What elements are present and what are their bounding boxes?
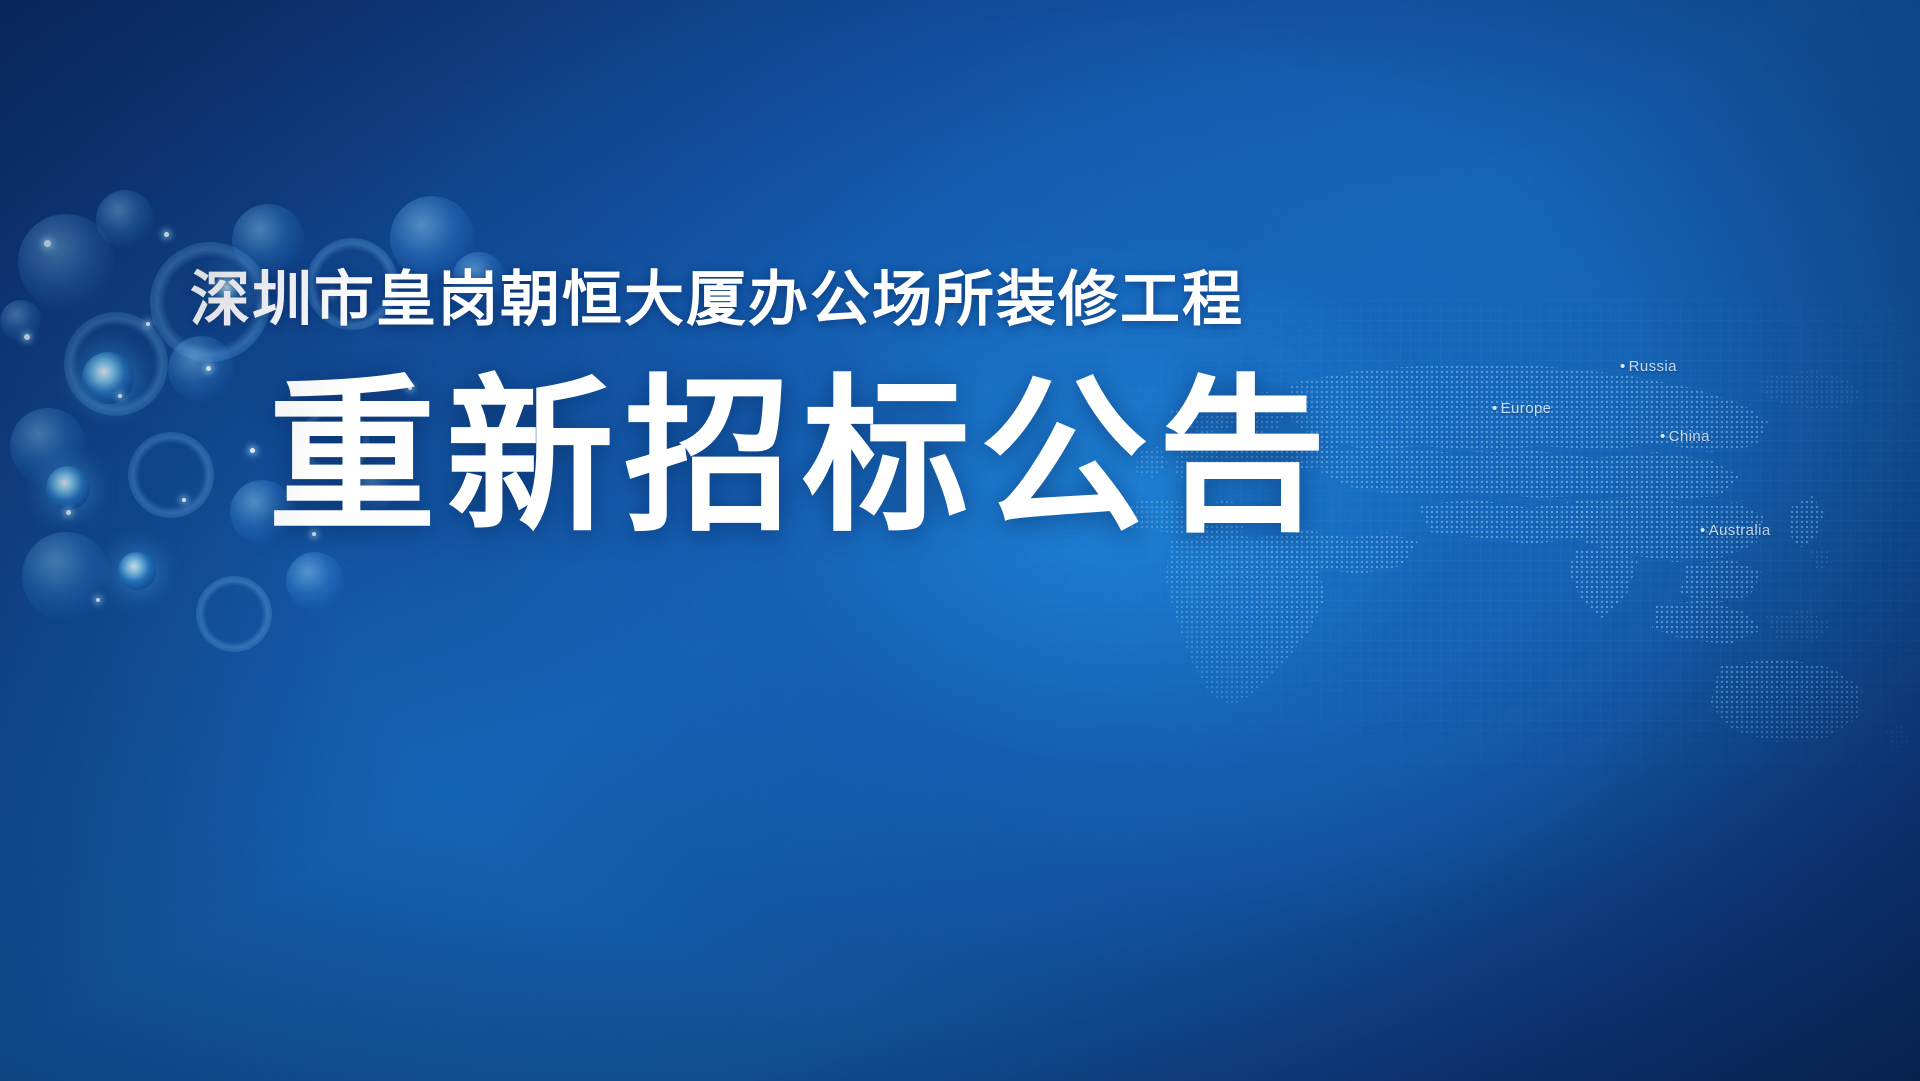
bokeh-circle [22, 532, 110, 620]
bokeh-ring [196, 576, 272, 652]
spark-dot [96, 598, 100, 602]
bokeh-bright [118, 552, 156, 590]
project-subtitle: 深圳市皇岗朝恒大厦办公场所装修工程 [190, 268, 1920, 331]
bokeh-circle [286, 552, 344, 610]
announcement-headline: 重新招标公告 [268, 373, 1920, 541]
spark-dot [164, 232, 169, 237]
bokeh-circle [96, 190, 154, 248]
banner-text-block: 深圳市皇岗朝恒大厦办公场所装修工程 重新招标公告 [0, 268, 1920, 541]
spark-dot [44, 240, 51, 247]
announcement-banner: Russia Europe China Australia [0, 0, 1920, 1081]
